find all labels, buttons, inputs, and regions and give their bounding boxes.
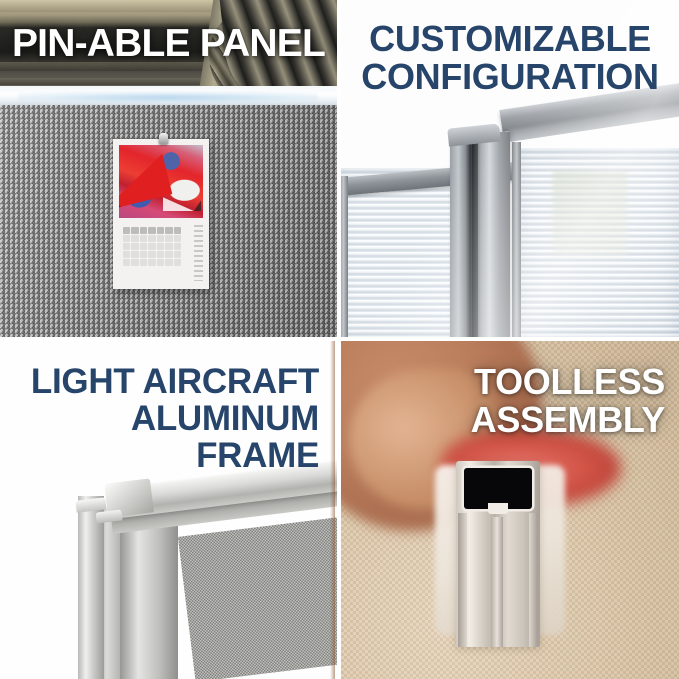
extrusion-web xyxy=(491,517,503,647)
feature-collage: PIN-ABLE PANEL CUSTOMIZABLE CONFIGURATIO… xyxy=(0,0,679,679)
extrusion-center-notch xyxy=(488,503,508,514)
calendar-cell xyxy=(140,235,147,242)
panel-heading-toolless-assembly: TOOLLESS ASSEMBLY xyxy=(349,363,665,439)
scene-pin-able-panel: PIN-ABLE PANEL xyxy=(0,0,337,337)
calendar-cell xyxy=(157,251,164,258)
calendar-cell xyxy=(157,259,164,266)
calendar-cell xyxy=(140,251,147,258)
extrusion-lip-left xyxy=(458,513,467,647)
window-blinds-right xyxy=(518,148,679,337)
calendar-cell xyxy=(148,235,155,242)
calendar-cell xyxy=(131,235,138,242)
calendar-artwork xyxy=(119,145,203,218)
calendar-cell xyxy=(148,251,155,258)
calendar-date-grid xyxy=(123,227,181,275)
calendar-cell xyxy=(174,235,181,242)
calendar-cell xyxy=(174,227,181,234)
calendar-cell xyxy=(140,227,147,234)
calendar-cell xyxy=(131,243,138,250)
calendar-cell xyxy=(165,227,172,234)
post-channel-groove xyxy=(472,140,478,337)
panel-heading-light-aircraft-aluminum-frame: LIGHT AIRCRAFT ALUMINUM FRAME xyxy=(8,363,319,474)
calendar-cell xyxy=(131,259,138,266)
calendar-cell xyxy=(123,235,130,242)
panel-heading-pin-able-panel: PIN-ABLE PANEL xyxy=(0,23,337,64)
aluminum-connector-post xyxy=(450,132,510,337)
calendar-cell xyxy=(140,259,147,266)
calendar-cell xyxy=(165,243,172,250)
glass-mullion-right xyxy=(512,142,521,337)
scene-toolless-assembly: TOOLLESS ASSEMBLY xyxy=(341,341,679,679)
panel-toolless-assembly: TOOLLESS ASSEMBLY xyxy=(341,341,679,679)
panel-light-aircraft-aluminum-frame: LIGHT AIRCRAFT ALUMINUM FRAME xyxy=(0,341,337,679)
extrusion-lip-right xyxy=(529,513,538,647)
scene-customizable-configuration: CUSTOMIZABLE CONFIGURATION xyxy=(341,0,679,337)
calendar-cell xyxy=(148,243,155,250)
calendar-cell xyxy=(165,251,172,258)
push-pin-icon xyxy=(159,133,168,144)
frame-vertical-post-front xyxy=(118,513,178,679)
panel-heading-customizable-configuration: CUSTOMIZABLE CONFIGURATION xyxy=(349,20,671,96)
photo-edge-shadow xyxy=(330,341,335,679)
glass-mullion-left xyxy=(341,176,348,337)
pinned-calendar xyxy=(113,139,209,289)
panel-customizable-configuration: CUSTOMIZABLE CONFIGURATION xyxy=(341,0,679,337)
calendar-cell xyxy=(174,251,181,258)
calendar-cell xyxy=(157,235,164,242)
calendar-cell xyxy=(174,259,181,266)
frame-fabric-infill xyxy=(178,516,337,679)
calendar-cell xyxy=(131,251,138,258)
calendar-cell xyxy=(165,259,172,266)
calendar-cell xyxy=(140,243,147,250)
calendar-month-label xyxy=(194,225,203,281)
light-glow xyxy=(18,92,318,103)
calendar-cell xyxy=(165,235,172,242)
calendar-cell xyxy=(148,227,155,234)
calendar-cell xyxy=(157,227,164,234)
calendar-cell xyxy=(123,259,130,266)
frame-vertical-post-rear xyxy=(78,496,104,679)
calendar-cell xyxy=(123,251,130,258)
calendar-cell xyxy=(157,243,164,250)
calendar-cell xyxy=(174,243,181,250)
calendar-cell xyxy=(123,243,130,250)
calendar-cell xyxy=(148,259,155,266)
calendar-cell xyxy=(131,227,138,234)
scene-light-aircraft-aluminum-frame: LIGHT AIRCRAFT ALUMINUM FRAME xyxy=(0,341,337,679)
panel-pin-able-panel: PIN-ABLE PANEL xyxy=(0,0,337,337)
calendar-cell xyxy=(123,227,130,234)
